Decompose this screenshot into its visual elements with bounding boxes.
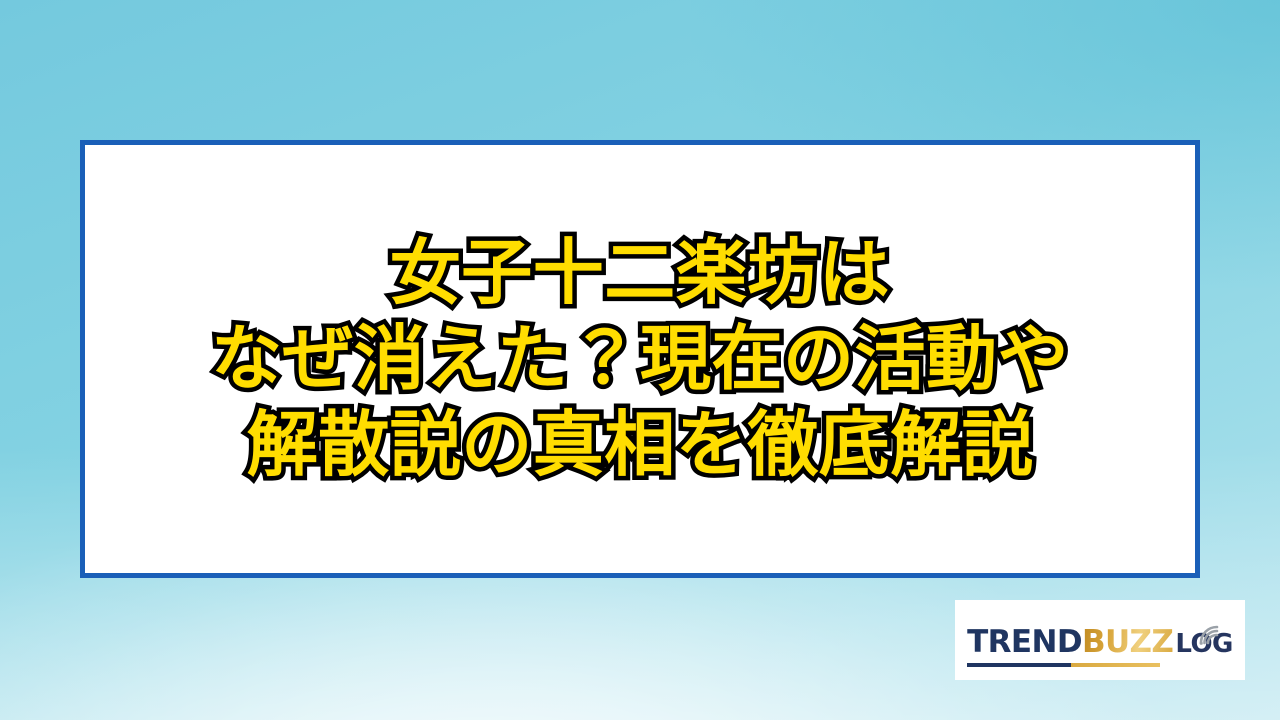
wifi-dot — [1200, 642, 1203, 645]
thumbnail-canvas: 女子十二楽坊は なぜ消えた？現在の活動や 解散説の真相を徹底解説 TREND B… — [0, 0, 1280, 720]
logo-text-buzz: BUZZ — [1082, 624, 1173, 660]
site-logo[interactable]: TREND BUZZ LOG — [955, 600, 1245, 680]
title-line-1: 女子十二楽坊は — [85, 230, 1195, 316]
logo-wordmark: TREND BUZZ LOG — [967, 624, 1233, 660]
logo-inner: TREND BUZZ LOG — [967, 620, 1233, 660]
wifi-signal-icon — [1197, 618, 1227, 646]
logo-text-trend: TREND — [967, 624, 1082, 660]
page-title: 女子十二楽坊は なぜ消えた？現在の活動や 解散説の真相を徹底解説 — [85, 230, 1195, 487]
title-panel: 女子十二楽坊は なぜ消えた？現在の活動や 解散説の真相を徹底解説 — [80, 140, 1200, 578]
title-line-3: 解散説の真相を徹底解説 — [85, 402, 1195, 488]
title-line-2: なぜ消えた？現在の活動や — [85, 316, 1195, 402]
logo-underline-bar — [967, 663, 1160, 667]
